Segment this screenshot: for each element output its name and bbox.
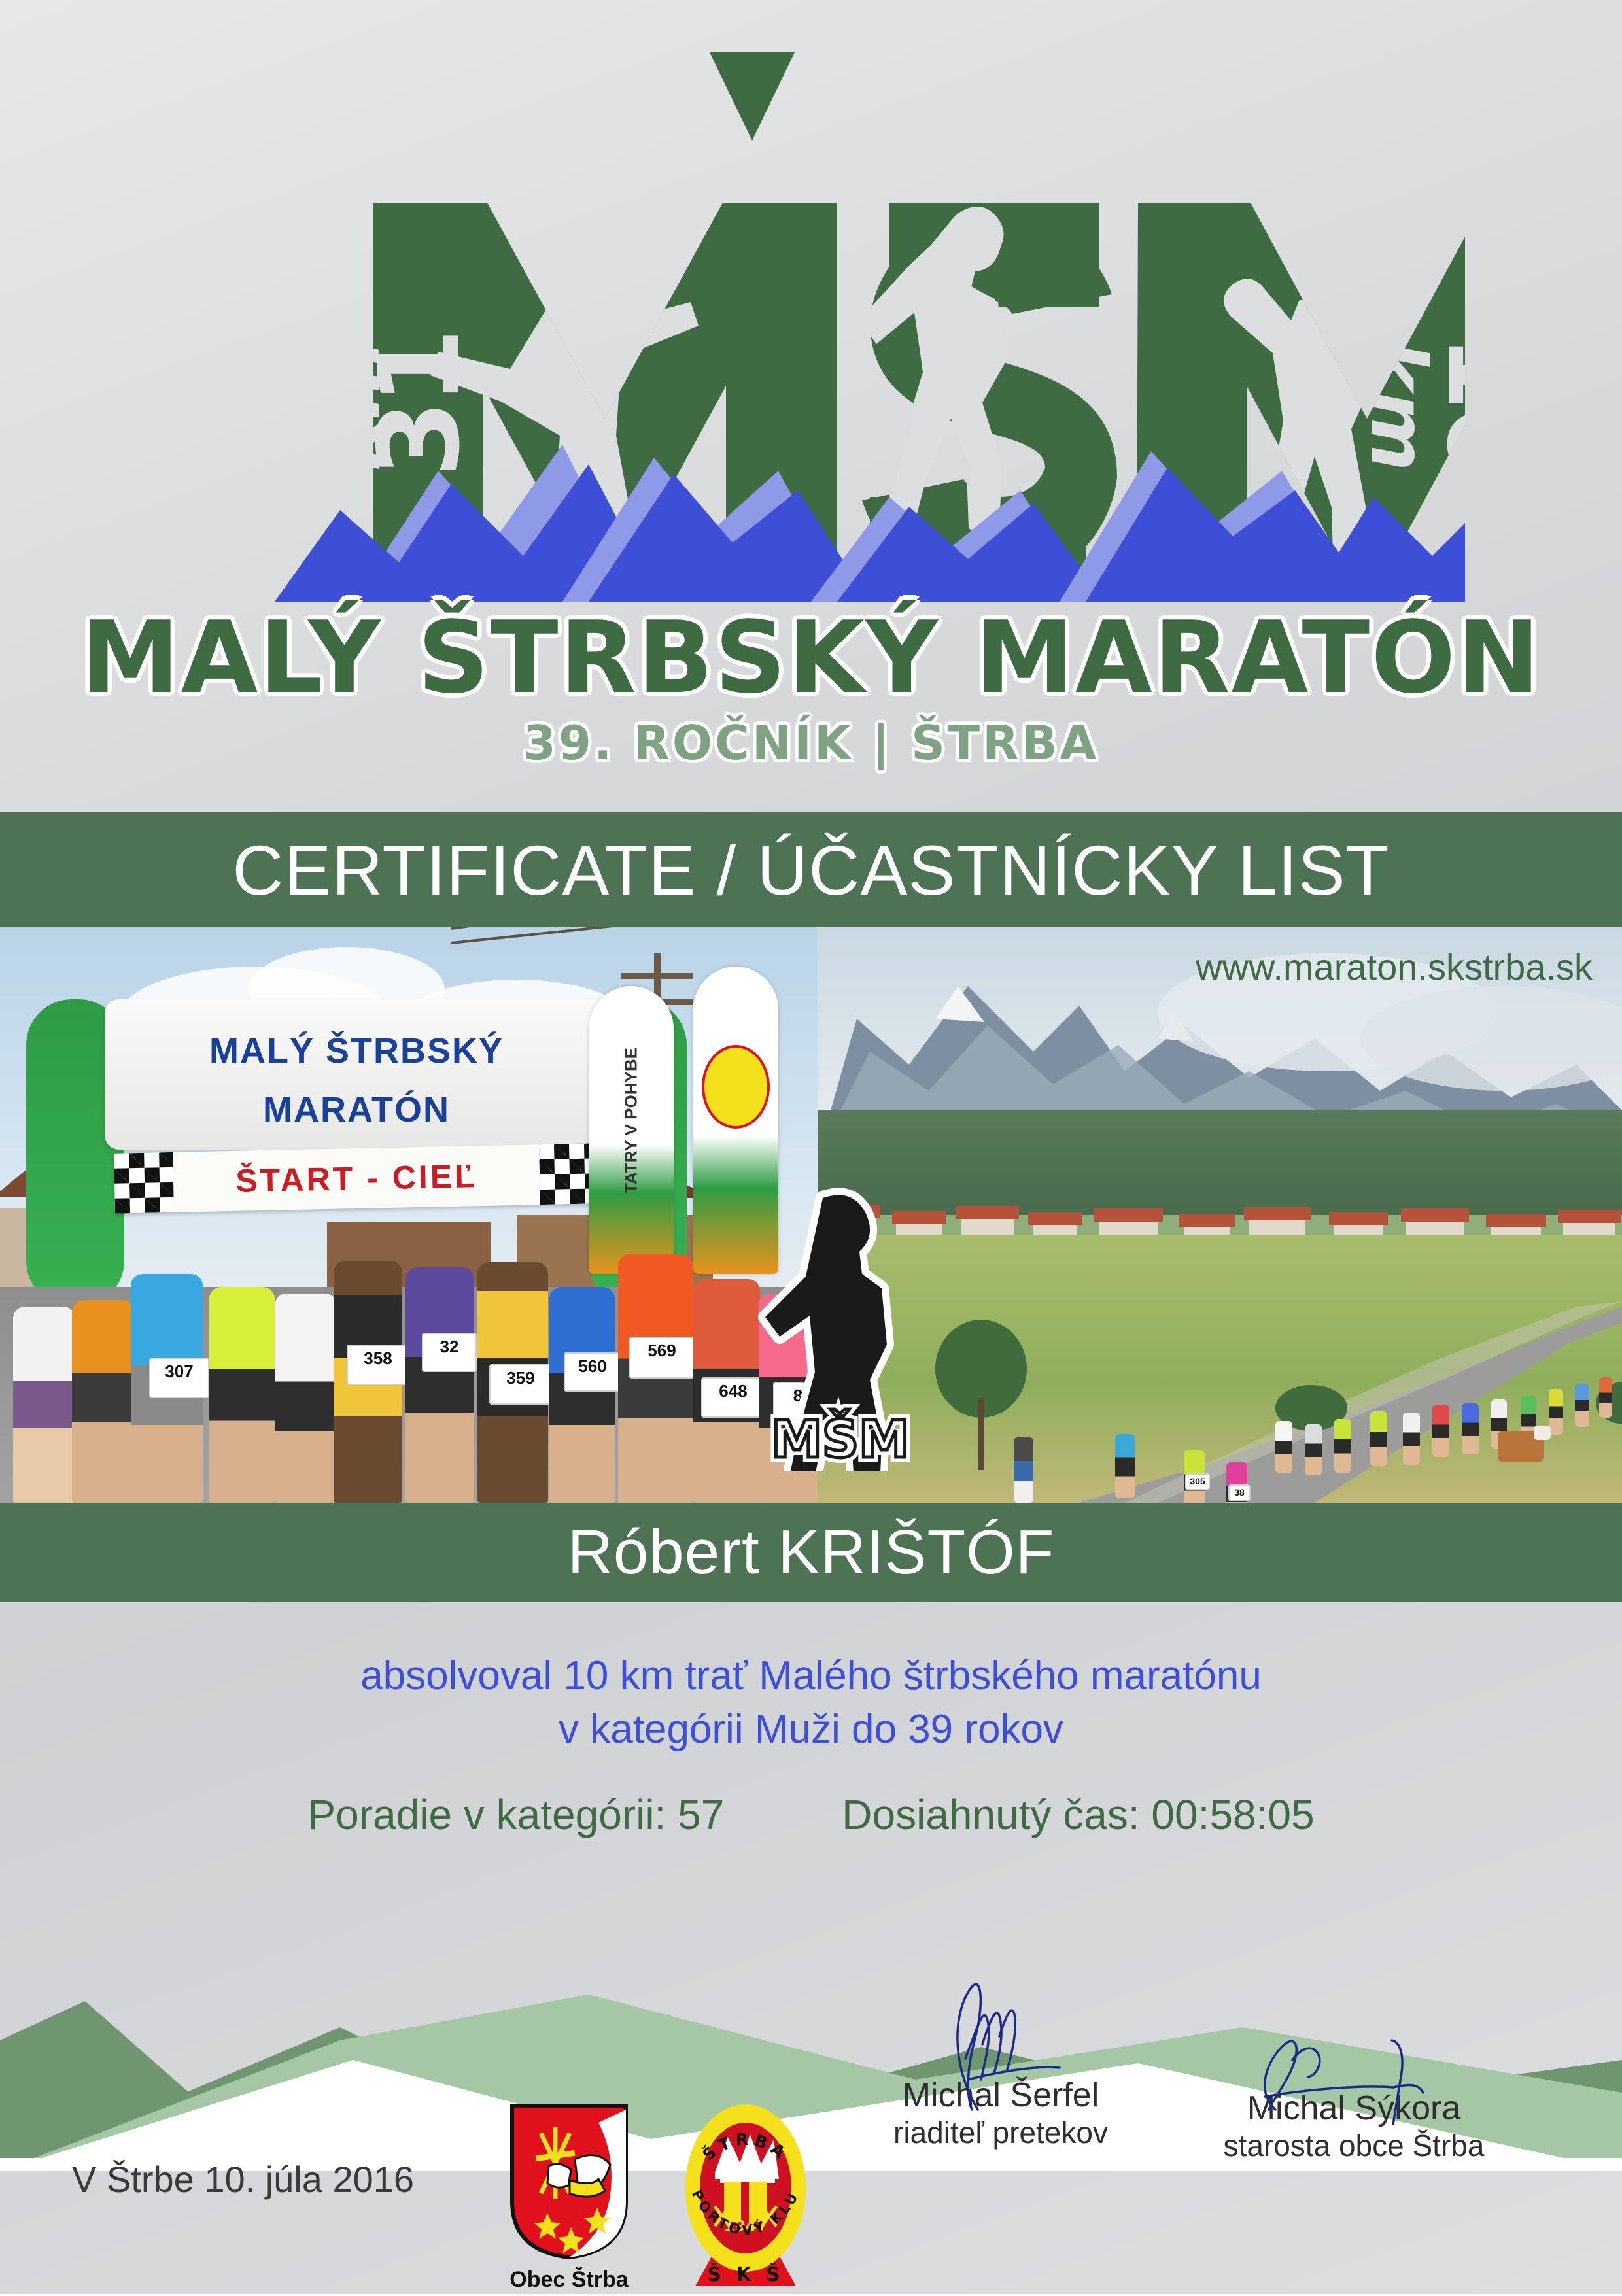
- signature-block-mayor: Michal Sýkora starosta obce Štrba: [1197, 2093, 1511, 2163]
- description-line-1: absolvoval 10 km trať Malého štrbského m…: [0, 1649, 1622, 1703]
- category-rank: Poradie v kategórii: 57: [307, 1791, 724, 1839]
- runner-figure: [1432, 1405, 1449, 1457]
- signature-role: riaditeľ pretekov: [844, 2115, 1158, 2150]
- cow-head: [1534, 1426, 1551, 1440]
- arch-text-line1: MALÝ ŠTRBSKÝ: [105, 1031, 608, 1071]
- runner-bib: 569: [629, 1337, 695, 1379]
- msm-runner-emblem: MŠM MŠM: [746, 1184, 935, 1471]
- event-website-url: www.maraton.skstrba.sk: [1196, 946, 1593, 988]
- svg-text:km: km: [1353, 339, 1443, 471]
- runner-bib: 307: [149, 1358, 209, 1398]
- runner-bib: 359: [489, 1364, 552, 1405]
- certificate-footer: V Štrbe 10. júla 2016: [0, 2080, 1622, 2294]
- crest-obec-strba: Obec Štrba: [504, 2103, 634, 2293]
- runner-figure: [1575, 1384, 1589, 1427]
- start-finish-text: ŠTART - CIEĽ: [235, 1157, 477, 1200]
- svg-text:MŠM: MŠM: [771, 1409, 909, 1469]
- sks-badge-icon: [702, 1045, 770, 1129]
- runner-figure: [13, 1307, 75, 1503]
- logo-block: 31 km: [0, 0, 1622, 812]
- certificate-page: 31 km: [0, 0, 1622, 2294]
- description-line-2: v kategórii Muži do 39 rokov: [0, 1703, 1622, 1756]
- photo-countryside: 305 38 www.maraton.skstrba.sk: [818, 927, 1622, 1503]
- runner-figure: [405, 1267, 474, 1503]
- runner-figure: [1370, 1411, 1387, 1466]
- runner-figure: [1334, 1419, 1351, 1473]
- runner-figure: [1462, 1403, 1479, 1454]
- signature-mark: [844, 1981, 1158, 2112]
- runner-figure: [209, 1287, 275, 1503]
- participant-name-band: Róbert KRIŠTÓF: [0, 1503, 1622, 1602]
- achievement-description: absolvoval 10 km trať Malého štrbského m…: [0, 1649, 1622, 1756]
- runner-figure: [275, 1294, 337, 1503]
- crest-sks-strba: 1947 ŠTRBA ŠPORTOVÝ KLUB Š K Š: [677, 2097, 818, 2293]
- signature-block-director: Michal Šerfel riaditeľ pretekov: [844, 2080, 1158, 2150]
- runner-figure: [549, 1287, 615, 1503]
- spectator-figure: [1115, 1434, 1135, 1498]
- start-finish-banner: ŠTART - CIEĽ: [114, 1143, 599, 1213]
- runner-figure: [1549, 1389, 1563, 1435]
- runner-bib: 560: [564, 1352, 621, 1392]
- issue-date: V Štrbe 10. júla 2016: [72, 2158, 414, 2201]
- photo-race-start: MALÝ ŠTRBSKÝ MARATÓN ŠTART - CIEĽ TATRY …: [0, 927, 818, 1503]
- signature-role: starosta obce Štrba: [1197, 2128, 1511, 2163]
- checker-left: [114, 1152, 174, 1214]
- event-sub-title: 39. ROČNÍK | ŠTRBA: [0, 719, 1622, 766]
- runner-figure: [1599, 1377, 1612, 1418]
- finish-time: Dosiahnutý čas: 00:58:05: [842, 1791, 1314, 1839]
- participant-name: Róbert KRIŠTÓF: [568, 1516, 1055, 1588]
- certificate-title-band: CERTIFICATE / ÚČASTNÍCKY LIST: [0, 812, 1622, 927]
- event-title-wrap: MALÝ ŠTRBSKÝ MARATÓN 39. ROČNÍK | ŠTRBA: [0, 608, 1622, 766]
- runner-figure: [1305, 1424, 1322, 1475]
- crest-obec-label: Obec Štrba: [504, 2267, 634, 2293]
- flag-text: TATRY V POHYBE: [621, 1048, 642, 1193]
- results-row: Poradie v kategórii: 57 Dosiahnutý čas: …: [0, 1791, 1622, 1839]
- certificate-title: CERTIFICATE / ÚČASTNÍCKY LIST: [232, 829, 1389, 911]
- spectator-figure: [1014, 1437, 1033, 1503]
- event-main-title: MALÝ ŠTRBSKÝ MARATÓN: [0, 608, 1622, 708]
- runner-figure: [72, 1300, 134, 1503]
- arch-banner-top: MALÝ ŠTRBSKÝ MARATÓN: [105, 999, 608, 1150]
- runner-bib: 358: [347, 1345, 409, 1385]
- msm-logo: 31 km: [157, 39, 1465, 602]
- msm-emblem-text: MŠM MŠM: [771, 1409, 909, 1469]
- runner-bib: 32: [422, 1333, 477, 1372]
- runner-figure: [618, 1254, 693, 1503]
- arch-text-line2: MARATÓN: [105, 1089, 608, 1130]
- caron-accent: [710, 52, 795, 141]
- runner-bib: 38: [1228, 1484, 1251, 1501]
- runner-figure: [1403, 1413, 1420, 1465]
- sponsor-flag-tatry: TATRY V POHYBE: [589, 986, 674, 1274]
- svg-text:km: km: [307, 339, 398, 471]
- crest-sks-bottom-text: Š K Š: [707, 2262, 784, 2286]
- signature-mark: [1197, 1995, 1511, 2125]
- runner-bib: 305: [1185, 1473, 1210, 1490]
- runner-figure: [1275, 1421, 1292, 1473]
